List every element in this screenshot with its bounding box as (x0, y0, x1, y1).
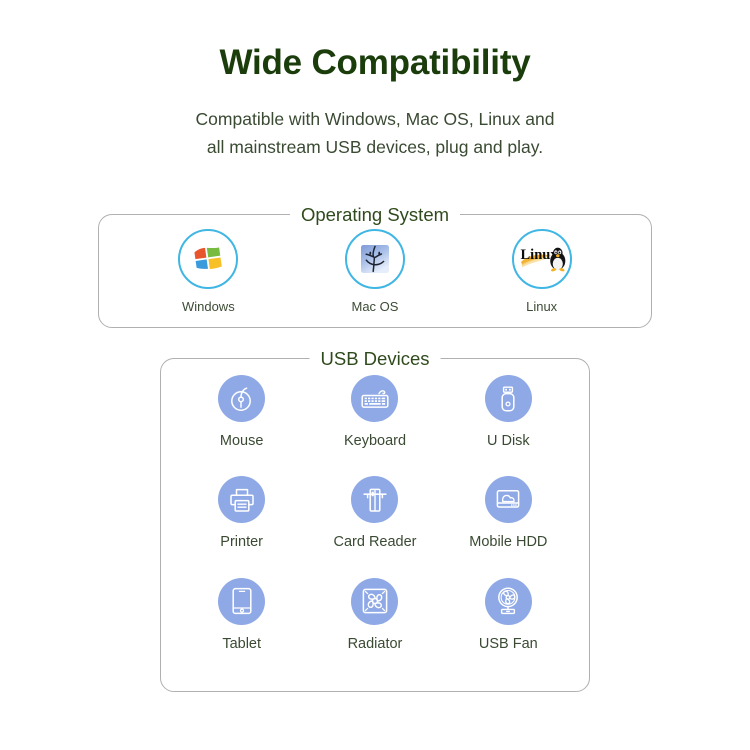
os-item-label: Windows (138, 299, 278, 314)
windows-logo-icon (190, 241, 226, 277)
usb-item-mobile-hdd[interactable]: Mobile HDD (442, 476, 575, 577)
linux-tux-icon: Linux (518, 242, 566, 276)
usb-item-printer[interactable]: Printer (175, 476, 308, 577)
usb-icon-circle-u-disk (485, 375, 532, 422)
usb-icon-circle-usb-fan (485, 578, 532, 625)
usb-item-u-disk[interactable]: U Disk (442, 375, 575, 476)
usb-item-label: Mouse (175, 433, 308, 449)
page-subtitle: Compatible with Windows, Mac OS, Linux a… (0, 105, 750, 162)
usb-icon-circle-radiator (351, 578, 398, 625)
operating-system-list: Windows (99, 215, 651, 327)
usb-item-mouse[interactable]: Mouse (175, 375, 308, 476)
usb-flash-drive-icon (494, 384, 522, 414)
usb-item-label: Keyboard (308, 433, 441, 449)
usb-item-tablet[interactable]: Tablet (175, 578, 308, 679)
usb-item-label: Mobile HDD (442, 534, 575, 550)
usb-icon-circle-mobile-hdd (485, 476, 532, 523)
external-hard-drive-icon (493, 486, 523, 514)
os-item-macos[interactable]: Mac OS (305, 229, 445, 314)
operating-system-panel-legend: Operating System (290, 202, 460, 228)
subtitle-line-1: Compatible with Windows, Mac OS, Linux a… (0, 105, 750, 133)
os-item-label: Linux (472, 299, 612, 314)
usb-item-label: Tablet (175, 636, 308, 652)
header: Wide Compatibility Compatible with Windo… (0, 0, 750, 161)
usb-fan-icon (493, 585, 523, 617)
os-icon-ring-linux: Linux (512, 229, 572, 289)
finder-face-icon (358, 242, 392, 276)
usb-icon-circle-printer (218, 476, 265, 523)
page-title: Wide Compatibility (0, 44, 750, 83)
os-icon-ring-macos (345, 229, 405, 289)
mouse-icon (227, 384, 257, 414)
printer-icon (227, 485, 257, 515)
usb-icon-circle-tablet (218, 578, 265, 625)
usb-devices-panel-legend: USB Devices (310, 346, 441, 372)
os-item-windows[interactable]: Windows (138, 229, 278, 314)
usb-item-usb-fan[interactable]: USB Fan (442, 578, 575, 679)
os-item-linux[interactable]: Linux (472, 229, 612, 314)
usb-item-label: U Disk (442, 433, 575, 449)
os-item-label: Mac OS (305, 299, 445, 314)
compatibility-infographic: Wide Compatibility Compatible with Windo… (0, 0, 750, 750)
usb-icon-circle-mouse (218, 375, 265, 422)
operating-system-panel: Operating System (98, 214, 652, 328)
tablet-icon (229, 586, 255, 616)
radiator-fan-icon (360, 586, 390, 616)
usb-item-label: Printer (175, 534, 308, 550)
usb-item-card-reader[interactable]: Card Reader (308, 476, 441, 577)
card-reader-icon (361, 485, 389, 515)
usb-item-keyboard[interactable]: Keyboard (308, 375, 441, 476)
usb-icon-circle-card-reader (351, 476, 398, 523)
usb-item-label: USB Fan (442, 636, 575, 652)
usb-item-label: Card Reader (308, 534, 441, 550)
usb-item-radiator[interactable]: Radiator (308, 578, 441, 679)
usb-icon-circle-keyboard (351, 375, 398, 422)
usb-devices-grid: Mouse (161, 359, 589, 691)
os-icon-ring-windows (178, 229, 238, 289)
usb-item-label: Radiator (308, 636, 441, 652)
keyboard-icon (359, 384, 391, 414)
usb-devices-panel: USB Devices Mouse (160, 358, 590, 692)
subtitle-line-2: all mainstream USB devices, plug and pla… (0, 133, 750, 161)
